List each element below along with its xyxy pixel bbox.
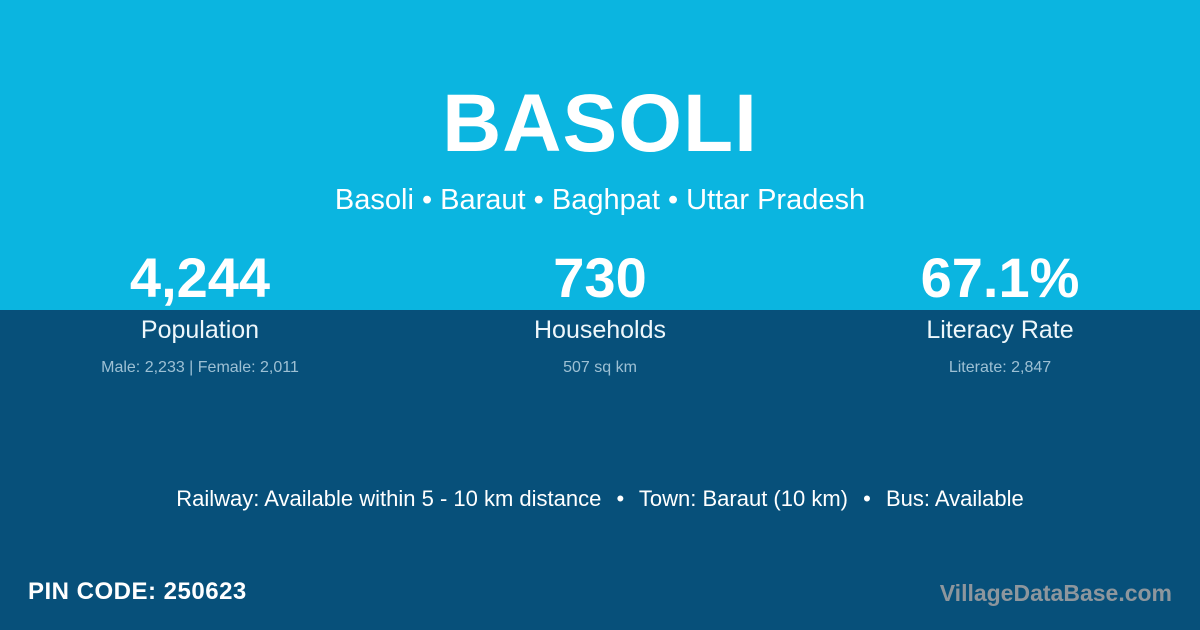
stat-households: 730 Households 507 sq km: [400, 246, 800, 379]
stat-population-sub: Male: 2,233 | Female: 2,011: [0, 357, 400, 379]
infra-separator-2: •: [854, 484, 880, 514]
stat-population-label: Population: [0, 315, 400, 345]
infra-separator-1: •: [608, 484, 634, 514]
infrastructure-line: Railway: Available within 5 - 10 km dist…: [0, 484, 1200, 514]
stat-literacy-rate: 67.1% Literacy Rate Literate: 2,847: [800, 246, 1200, 379]
page-title: BASOLI: [0, 80, 1200, 168]
village-info-card: BASOLI Basoli • Baraut • Baghpat • Uttar…: [0, 0, 1200, 630]
stat-population: 4,244 Population Male: 2,233 | Female: 2…: [0, 246, 400, 379]
stat-households-label: Households: [400, 315, 800, 345]
site-watermark: VillageDataBase.com: [940, 577, 1172, 609]
infra-town: Town: Baraut (10 km): [639, 486, 848, 511]
breadcrumb: Basoli • Baraut • Baghpat • Uttar Prades…: [0, 182, 1200, 218]
stats-row: 4,244 Population Male: 2,233 | Female: 2…: [0, 246, 1200, 379]
infra-railway: Railway: Available within 5 - 10 km dist…: [176, 486, 601, 511]
footer: PIN CODE: 250623 VillageDataBase.com: [0, 575, 1200, 615]
infra-bus: Bus: Available: [886, 486, 1024, 511]
stat-population-value: 4,244: [0, 246, 400, 310]
stat-literacy-rate-value: 67.1%: [800, 246, 1200, 310]
stat-households-sub: 507 sq km: [400, 357, 800, 379]
stat-literacy-rate-label: Literacy Rate: [800, 315, 1200, 345]
stat-literacy-rate-sub: Literate: 2,847: [800, 357, 1200, 379]
stat-households-value: 730: [400, 246, 800, 310]
pin-code: PIN CODE: 250623: [28, 575, 247, 609]
